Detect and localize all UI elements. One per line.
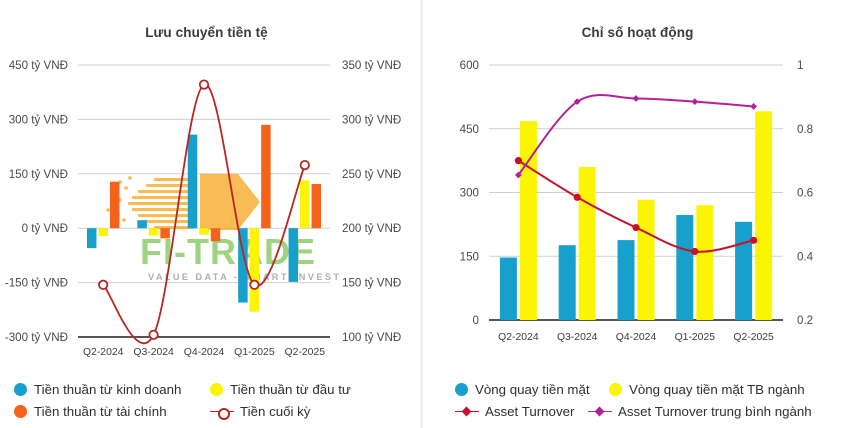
left-axis-tick: 150 tỷ VNĐ (9, 168, 68, 181)
left-axis-tick: 600 (460, 59, 479, 72)
bar (735, 222, 752, 320)
activity-ratios-panel: Chỉ số hoạt động 600450300150010.80.60.4… (431, 0, 844, 428)
trend-point (691, 248, 698, 255)
legend-investing-cash[interactable]: Tiền thuần từ đầu tư (210, 382, 351, 397)
bar (696, 205, 713, 320)
legend-financing-cash[interactable]: Tiền thuần từ tài chính (14, 404, 210, 419)
activity-ratios-chart: 600450300150010.80.60.40.2Q2-2024Q3-2024… (431, 0, 844, 360)
left-axis-tick: 0 tỷ VNĐ (22, 222, 68, 235)
x-axis-category: Q4-2024 (184, 347, 225, 358)
legend-row-1: Tiền thuần từ kinh doanh Tiền thuần từ đ… (0, 378, 413, 400)
trend-point (515, 157, 522, 164)
ending-cash-point (149, 331, 157, 339)
legend-asset-turnover-label: Asset Turnover (485, 404, 574, 419)
trend-line (518, 161, 753, 252)
left-axis-tick: -300 tỷ VNĐ (5, 331, 68, 344)
right-axis-tick: 150 tỷ VNĐ (342, 277, 401, 290)
activity-ratios-legend: Vòng quay tiền mặt Vòng quay tiền mặt TB… (431, 378, 844, 422)
cash-turnover-swatch-icon (455, 383, 468, 396)
left-axis-tick: 150 (460, 250, 479, 263)
legend-operating-cash[interactable]: Tiền thuần từ kinh doanh (14, 382, 210, 397)
legend-investing-cash-label: Tiền thuần từ đầu tư (230, 382, 351, 397)
right-axis-tick: 1 (797, 59, 803, 72)
activity-ratios-title: Chỉ số hoạt động (431, 25, 844, 40)
bar (300, 180, 310, 228)
ending-cash-point (250, 281, 258, 289)
x-axis-category: Q2-2025 (733, 332, 774, 343)
trend-point (633, 95, 640, 102)
x-axis-category: Q3-2024 (557, 332, 598, 343)
ending-cash-point (99, 281, 107, 289)
bar (188, 135, 198, 229)
bar (110, 182, 120, 228)
cash-turnover-industry-swatch-icon (609, 383, 622, 396)
legend-financing-cash-label: Tiền thuần từ tài chính (34, 404, 167, 419)
cash-flow-panel: Lưu chuyển tiền tệ 450 tỷ VNĐ300 tỷ VNĐ1… (0, 0, 413, 428)
left-axis-tick: 0 (473, 314, 479, 327)
legend-ending-cash-label: Tiền cuối kỳ (240, 404, 310, 419)
ending-cash-point (200, 80, 208, 88)
legend-cash-turnover-industry[interactable]: Vòng quay tiền mặt TB ngành (609, 382, 805, 397)
asset-turnover-industry-line-marker-icon (588, 405, 612, 418)
x-axis-category: Q2-2025 (285, 347, 326, 358)
bar (676, 215, 693, 320)
x-axis-category: Q1-2025 (675, 332, 716, 343)
bar (98, 228, 108, 236)
right-axis-tick: 250 tỷ VNĐ (342, 168, 401, 181)
financing-cash-swatch-icon (14, 405, 27, 418)
bar (160, 228, 170, 238)
x-axis-category: Q4-2024 (616, 332, 657, 343)
trend-point (750, 103, 757, 110)
legend-cash-turnover-label: Vòng quay tiền mặt (475, 382, 590, 397)
legend-row-1: Vòng quay tiền mặt Vòng quay tiền mặt TB… (431, 378, 844, 400)
trend-point (632, 224, 639, 231)
bar (755, 111, 772, 320)
trend-point (691, 98, 698, 105)
x-axis-category: Q3-2024 (133, 347, 174, 358)
legend-asset-turnover-industry-label: Asset Turnover trung bình ngành (618, 404, 812, 419)
legend-row-2: Tiền thuần từ tài chính Tiền cuối kỳ (0, 400, 413, 422)
bar (250, 228, 260, 311)
legend-cash-turnover[interactable]: Vòng quay tiền mặt (455, 382, 609, 397)
legend-ending-cash[interactable]: Tiền cuối kỳ (210, 404, 310, 419)
operating-cash-swatch-icon (14, 383, 27, 396)
right-axis-tick: 0.6 (797, 187, 813, 200)
left-axis-tick: 300 (460, 187, 479, 200)
bar (87, 228, 97, 248)
bar (261, 125, 271, 228)
ending-cash-point (301, 161, 309, 169)
left-axis-tick: 450 tỷ VNĐ (9, 59, 68, 72)
legend-asset-turnover[interactable]: Asset Turnover (455, 404, 588, 419)
bar (211, 228, 221, 241)
cash-flow-title: Lưu chuyển tiền tệ (0, 25, 413, 40)
trend-point (574, 194, 581, 201)
bar (149, 228, 159, 235)
right-axis-tick: 200 tỷ VNĐ (342, 222, 401, 235)
right-axis-tick: 350 tỷ VNĐ (342, 59, 401, 72)
dual-chart-board: Lưu chuyển tiền tệ 450 tỷ VNĐ300 tỷ VNĐ1… (0, 0, 844, 428)
legend-operating-cash-label: Tiền thuần từ kinh doanh (34, 382, 181, 397)
x-axis-category: Q2-2024 (498, 332, 539, 343)
left-axis-tick: 450 (460, 123, 479, 136)
right-axis-tick: 100 tỷ VNĐ (342, 331, 401, 344)
legend-row-2: Asset Turnover Asset Turnover trung bình… (431, 400, 844, 422)
bar (289, 228, 299, 282)
bar (500, 258, 517, 320)
right-axis-tick: 0.2 (797, 314, 813, 327)
x-axis-category: Q2-2024 (83, 347, 124, 358)
bar (618, 240, 635, 320)
panel-divider (413, 0, 431, 428)
left-axis-tick: 300 tỷ VNĐ (9, 113, 68, 126)
bar (137, 220, 147, 228)
legend-cash-turnover-industry-label: Vòng quay tiền mặt TB ngành (629, 382, 805, 397)
left-axis-tick: -150 tỷ VNĐ (5, 277, 68, 290)
bar (579, 167, 596, 320)
x-axis-category: Q1-2025 (234, 347, 275, 358)
asset-turnover-line-marker-icon (455, 405, 479, 418)
right-axis-tick: 0.4 (797, 250, 814, 263)
bar (312, 184, 322, 228)
investing-cash-swatch-icon (210, 383, 223, 396)
bar (199, 228, 209, 235)
ending-cash-line-marker-icon (210, 405, 234, 418)
right-axis-tick: 300 tỷ VNĐ (342, 113, 401, 126)
right-axis-tick: 0.8 (797, 123, 813, 136)
bar (638, 200, 655, 320)
trend-point (750, 237, 757, 244)
cash-flow-legend: Tiền thuần từ kinh doanh Tiền thuần từ đ… (0, 378, 413, 422)
bar (559, 245, 576, 320)
legend-asset-turnover-industry[interactable]: Asset Turnover trung bình ngành (588, 404, 812, 419)
cash-flow-chart: 450 tỷ VNĐ300 tỷ VNĐ150 tỷ VNĐ0 tỷ VNĐ-1… (0, 0, 413, 360)
trend-line (518, 95, 753, 175)
